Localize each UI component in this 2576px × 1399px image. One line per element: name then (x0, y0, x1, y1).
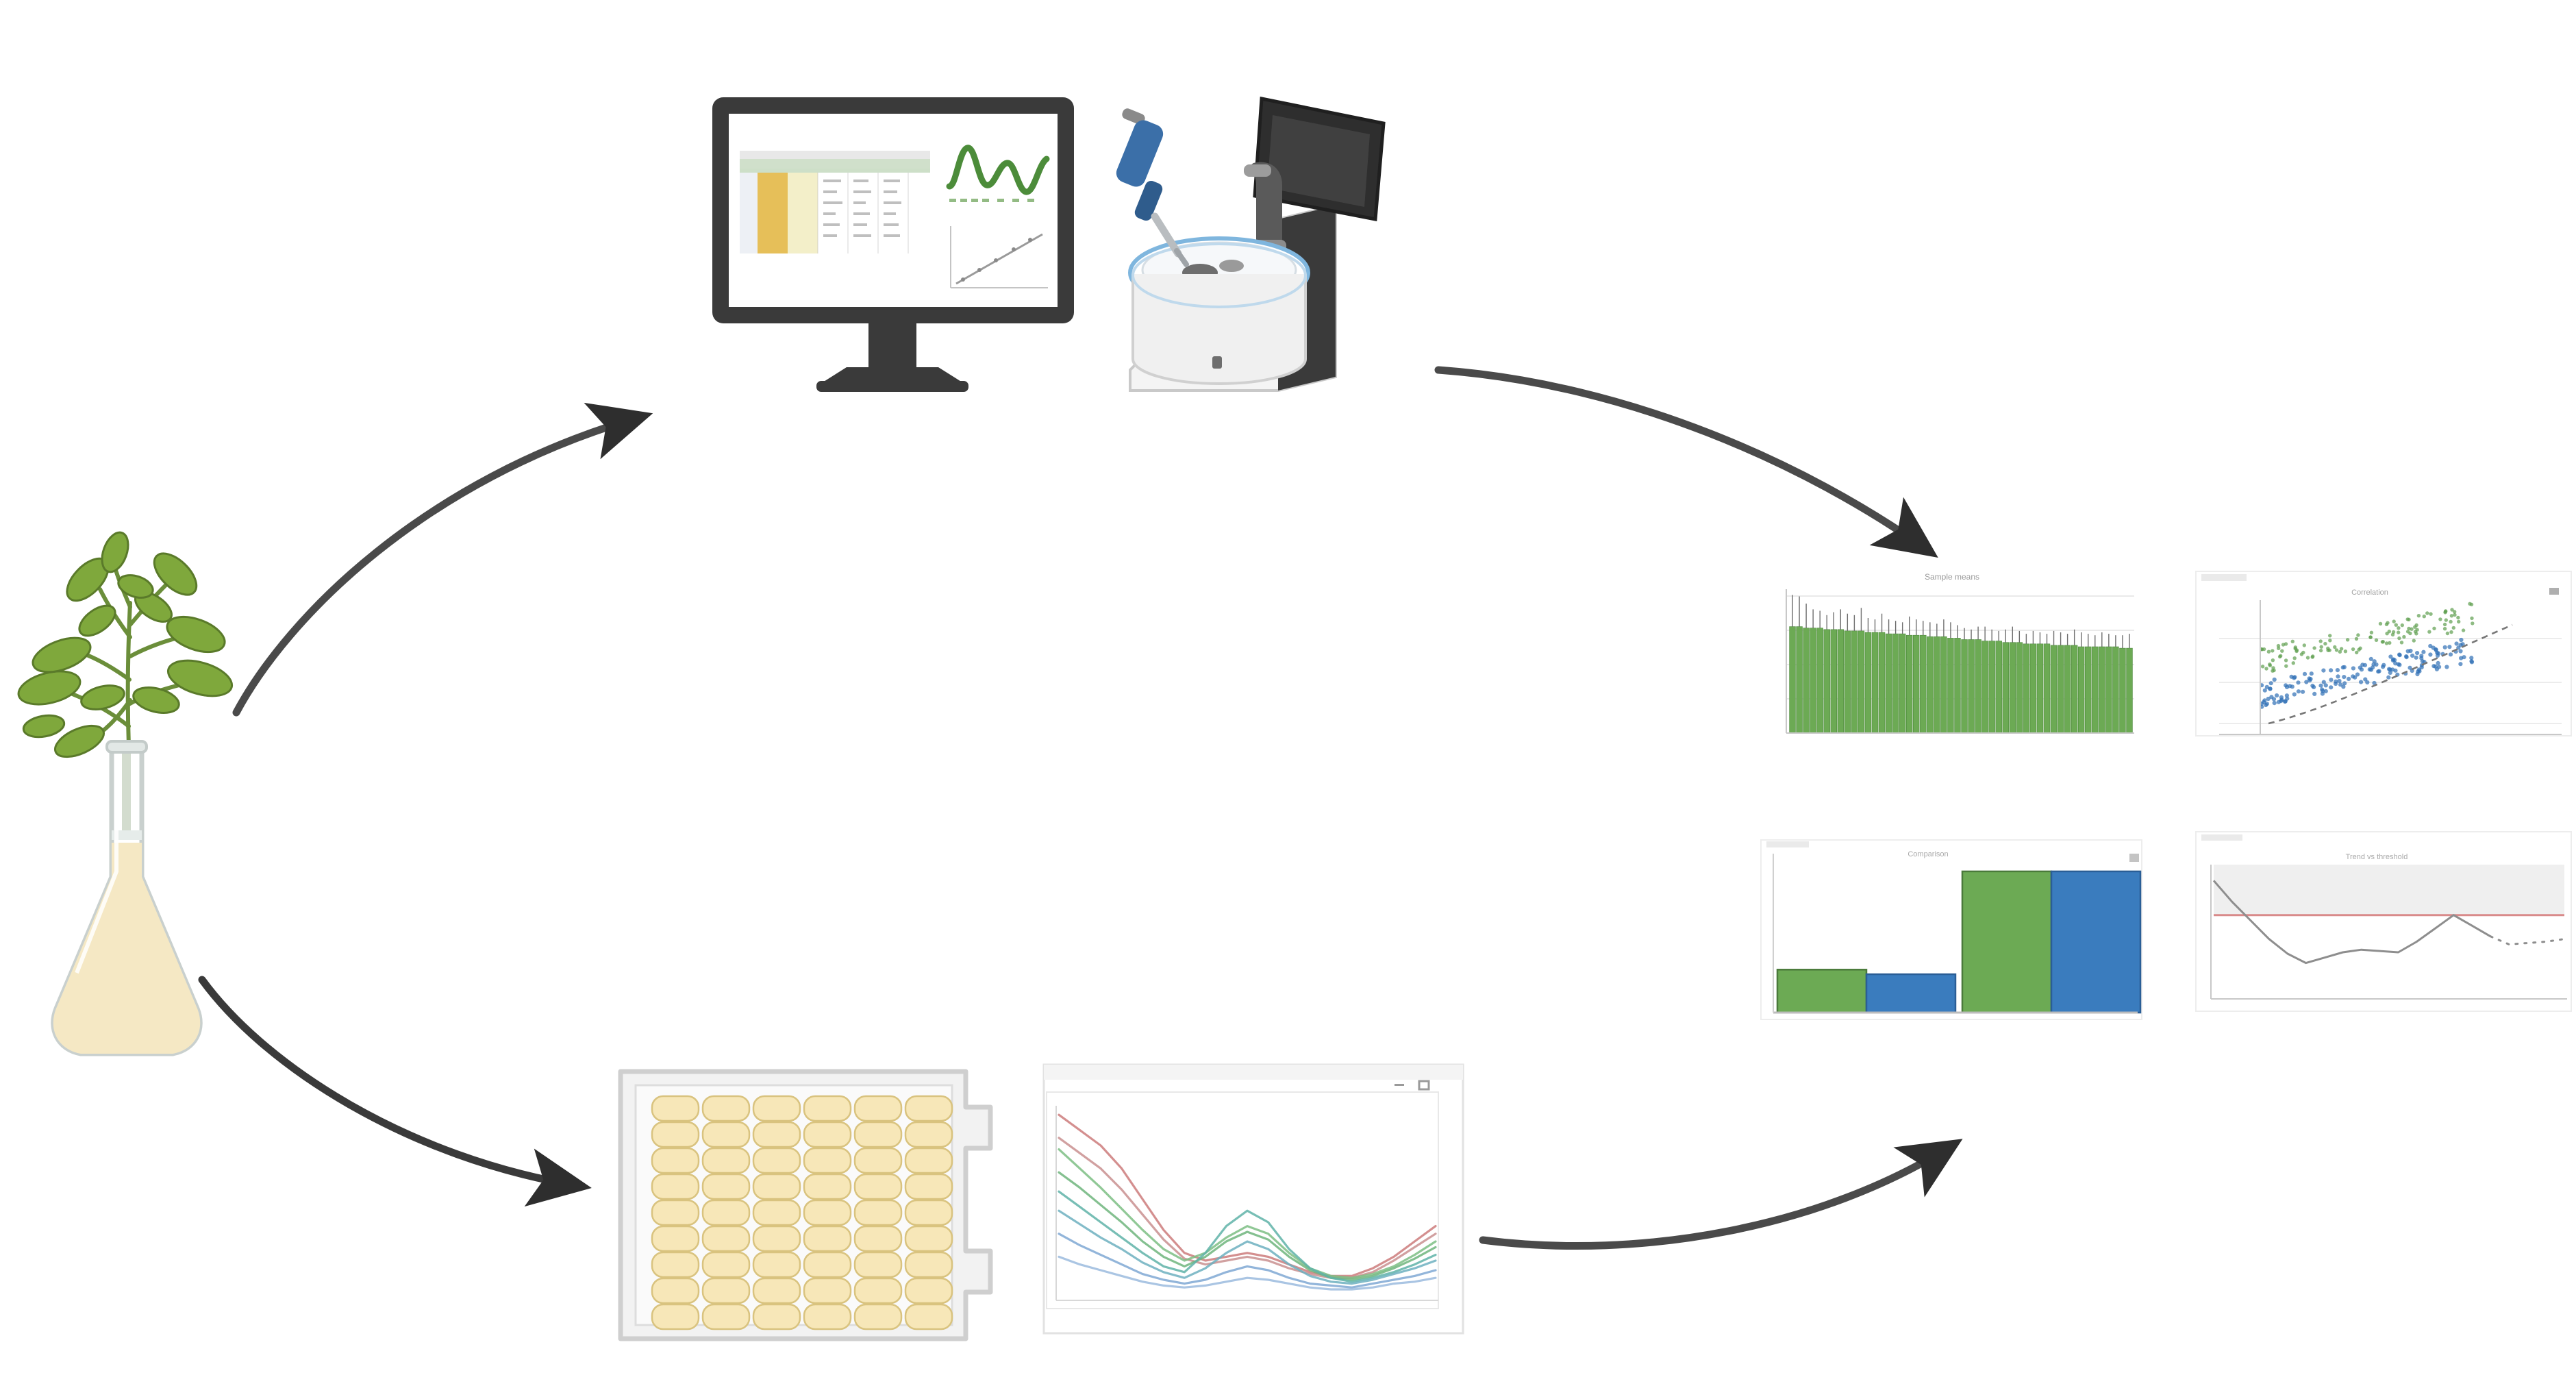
scatter-point (2391, 657, 2395, 661)
bar (1810, 628, 1816, 733)
microplate-well[interactable] (652, 1096, 699, 1121)
microplate-well[interactable] (905, 1148, 952, 1173)
bar (2010, 643, 2016, 733)
scatter-point (2385, 632, 2388, 635)
scatter-point (2269, 695, 2273, 699)
bar (2058, 645, 2064, 733)
scatter-point (2329, 685, 2333, 689)
scatter-point (2321, 689, 2325, 693)
scatter-point (2376, 669, 2380, 673)
bar (1962, 640, 1968, 734)
scatter-point (2414, 623, 2418, 627)
microplate-well[interactable] (855, 1148, 901, 1173)
bar (1831, 630, 1837, 733)
bar (2127, 648, 2133, 733)
scatter-point (2284, 642, 2288, 645)
scatter-point (2453, 613, 2456, 617)
scatter-point (2306, 656, 2310, 659)
microplate-well[interactable] (753, 1096, 800, 1121)
scatter-legend (2201, 574, 2247, 581)
bar (1824, 630, 1830, 733)
scatter-point (2456, 616, 2460, 619)
scatter-point (2310, 671, 2314, 676)
scatter-point (2414, 630, 2417, 633)
scatter-point (2328, 639, 2331, 642)
scatter-point (2468, 602, 2471, 606)
grouped-legend-marker (2129, 854, 2139, 862)
scatter-point (2360, 663, 2364, 667)
scatter-point (2417, 614, 2421, 617)
scatter-point (2277, 700, 2281, 704)
scatter-point (2334, 680, 2338, 684)
microplate-well[interactable] (804, 1174, 851, 1199)
scatter-point (2303, 643, 2306, 647)
scatter-point (2271, 658, 2275, 662)
scatter-point (2328, 634, 2331, 637)
scatter-point (2443, 610, 2447, 614)
scatter-point (2436, 661, 2440, 665)
microplate-well[interactable] (753, 1278, 800, 1303)
scatter-point (2406, 649, 2410, 653)
bar (2099, 647, 2105, 733)
bar (1940, 636, 1947, 733)
microplate-well[interactable] (753, 1122, 800, 1147)
scatter-point (2458, 662, 2462, 666)
scatter-point (2271, 649, 2274, 652)
scatter-point (2329, 678, 2333, 682)
bar (2023, 644, 2029, 733)
microplate-well[interactable] (905, 1096, 952, 1121)
scatter-point (2406, 630, 2410, 633)
microplate (610, 1062, 1007, 1350)
grouped-bar (1866, 974, 1955, 1013)
scatter-point (2341, 665, 2345, 669)
microplate-well[interactable] (905, 1278, 952, 1303)
scatter-point (2450, 608, 2453, 611)
scatter-point (2295, 648, 2299, 652)
line-chart-title: Trend vs threshold (2346, 853, 2408, 861)
scatter-point (2431, 645, 2436, 649)
volumetric-flask-icon (53, 741, 200, 1054)
scatter-point (2337, 679, 2341, 683)
bar (2112, 647, 2118, 733)
bar (2105, 647, 2112, 733)
scatter-point (2436, 652, 2440, 656)
arrow-spectra-to-results (1483, 1148, 1949, 1246)
scatter-series (2260, 602, 2512, 723)
scatter-point (2347, 677, 2351, 681)
scatter-point (2262, 698, 2266, 702)
scatter-point (2421, 650, 2425, 654)
bar (1845, 631, 1851, 733)
microplate-well[interactable] (753, 1252, 800, 1277)
scatter-point (2375, 639, 2378, 642)
microplate-well[interactable] (652, 1174, 699, 1199)
scatter-point (2425, 611, 2429, 615)
scatter-point (2261, 665, 2264, 668)
scatter-point (2452, 626, 2455, 630)
scatter-point (2394, 623, 2398, 627)
scatter-point (2329, 668, 2333, 672)
scatter-point (2450, 614, 2453, 617)
scatter-point (2284, 658, 2288, 662)
arrow-flask-to-plate (202, 980, 575, 1185)
scatter-point (2333, 645, 2336, 649)
scatter-point (2357, 648, 2360, 652)
scatter-point (2446, 632, 2449, 635)
scatter-point (2308, 678, 2312, 682)
bar (1865, 632, 1871, 733)
scatter-point (2269, 681, 2273, 685)
scatter-point (2459, 638, 2463, 642)
microplate-well[interactable] (804, 1148, 851, 1173)
results-panel: Sample means Correlation (1740, 548, 2576, 1069)
microplate-well[interactable] (753, 1148, 800, 1173)
line-forecast (2490, 937, 2564, 945)
microplate-well[interactable] (855, 1200, 901, 1225)
scatter-point (2443, 645, 2447, 649)
bar (2044, 644, 2050, 733)
microplate-well[interactable] (703, 1304, 749, 1329)
scatter-point (2273, 678, 2277, 682)
bar (2037, 644, 2043, 733)
scatter-point (2285, 697, 2289, 701)
scatter-point (2417, 667, 2421, 671)
microplate-well[interactable] (703, 1096, 749, 1121)
scatter-point (2319, 639, 2323, 643)
scatter-point (2303, 672, 2307, 676)
microplate-well[interactable] (855, 1226, 901, 1251)
scatter-point (2365, 680, 2369, 684)
bar (1838, 630, 1844, 733)
scatter-point (2458, 649, 2462, 653)
chart-scatter: Correlation (2192, 562, 2575, 767)
scatter-point (2397, 662, 2401, 666)
scatter-point (2272, 669, 2275, 672)
scatter-point (2444, 665, 2449, 669)
scatter-point (2397, 636, 2401, 640)
scatter-legend-marker (2549, 588, 2559, 595)
microplate-well[interactable] (753, 1200, 800, 1225)
scatter-point (2319, 649, 2323, 652)
microplate-well[interactable] (703, 1200, 749, 1225)
scatter-point (2280, 649, 2284, 653)
line-legend (2201, 834, 2242, 841)
microplate-well[interactable] (855, 1252, 901, 1277)
microplate-well[interactable] (855, 1278, 901, 1303)
bar (1851, 631, 1858, 733)
scatter-point (2404, 654, 2408, 658)
scatter-point (2292, 692, 2297, 696)
scatter-point (2391, 633, 2394, 636)
microplate-well[interactable] (652, 1148, 699, 1173)
bar (1948, 638, 1954, 733)
scatter-point (2421, 659, 2425, 663)
scatter-point (2438, 617, 2442, 621)
scatter-point (2296, 680, 2300, 684)
minimize-icon[interactable] (1395, 1084, 1404, 1086)
scatter-point (2285, 685, 2289, 689)
bar (1927, 636, 1933, 733)
plant-flask (14, 521, 240, 1076)
microplate-well[interactable] (855, 1304, 901, 1329)
scatter-point (2323, 642, 2327, 645)
workflow-diagram: Sample means Correlation (0, 0, 2576, 1399)
scatter-point (2410, 654, 2414, 658)
scatter-point (2371, 663, 2375, 667)
scatter-point (2457, 620, 2460, 623)
scatter-point (2470, 617, 2473, 620)
scatter-point (2360, 667, 2364, 671)
microplate-well[interactable] (703, 1278, 749, 1303)
microplate-well[interactable] (804, 1122, 851, 1147)
grouped-legend (1766, 841, 1809, 847)
scatter-point (2284, 665, 2288, 668)
scatter-point (2346, 638, 2349, 641)
scatter-point (2273, 701, 2277, 705)
scatter-point (2444, 618, 2448, 621)
scatter-point (2368, 667, 2372, 671)
grouped-bar (2051, 871, 2140, 1013)
scatter-point (2292, 675, 2297, 679)
bar (1790, 627, 1796, 733)
scatter-point (2353, 676, 2357, 680)
microplate-well[interactable] (652, 1200, 699, 1225)
bar (1886, 634, 1892, 733)
scatter-point (2414, 656, 2418, 660)
scatter-point (2268, 686, 2272, 691)
scatter-point (2336, 668, 2340, 672)
microplate-well[interactable] (804, 1252, 851, 1277)
scatter-point (2293, 656, 2297, 660)
microplate-well[interactable] (905, 1122, 952, 1147)
scatter-point (2292, 661, 2295, 665)
bar (2064, 645, 2071, 733)
bar (1968, 640, 1975, 734)
microplate-well[interactable] (652, 1226, 699, 1251)
threshold-band (2214, 865, 2564, 915)
bar (1982, 641, 1988, 733)
scatter-point (2326, 647, 2329, 650)
scatter-point (2297, 689, 2301, 693)
scatter-point (2312, 685, 2316, 689)
microplate-well[interactable] (753, 1226, 800, 1251)
scatter-point (2462, 655, 2466, 659)
scatter-point (2432, 627, 2436, 630)
bar (2016, 643, 2023, 733)
arrow-instruments-to-results (1438, 370, 1925, 548)
spectra-window (1041, 1062, 1466, 1336)
scatter-point (2423, 615, 2426, 618)
scatter-point (2400, 641, 2403, 644)
microplate-well[interactable] (703, 1252, 749, 1277)
scatter-point (2277, 644, 2280, 647)
scatter-point (2455, 641, 2459, 645)
scatter-point (2312, 692, 2316, 696)
scatter-point (2388, 671, 2392, 675)
scatter-point (2264, 667, 2268, 670)
microplate-well[interactable] (804, 1304, 851, 1329)
scatter-point (2381, 663, 2386, 667)
bar (1858, 631, 1864, 733)
scatter-point (2351, 666, 2355, 670)
microplate-well[interactable] (753, 1174, 800, 1199)
grouped-bar-series (1777, 871, 2140, 1013)
bar (1975, 640, 1981, 734)
scatter-point (2392, 619, 2396, 623)
scatter-point (2388, 641, 2391, 645)
bar (1913, 635, 1919, 733)
bar (2120, 648, 2126, 733)
microplate-well[interactable] (905, 1226, 952, 1251)
scatter-point (2369, 635, 2373, 639)
monitor (705, 82, 1089, 418)
scatter-point (2449, 630, 2453, 634)
bar (1797, 627, 1803, 733)
scatter-point (2401, 623, 2404, 627)
scatter-point (2415, 651, 2419, 655)
bar (1996, 641, 2002, 733)
scatter-point (2351, 647, 2355, 651)
plant-icon (15, 529, 236, 763)
bar (2051, 645, 2057, 733)
microplate-well[interactable] (703, 1148, 749, 1173)
microplate-well[interactable] (905, 1174, 952, 1199)
bar (1899, 634, 1905, 733)
scatter-point (2402, 635, 2405, 639)
arrow-flask-to-instruments (236, 418, 637, 713)
scatter-point (2381, 640, 2385, 643)
scatter-point (2410, 628, 2413, 631)
scatter-point (2397, 626, 2400, 630)
bar (1906, 635, 1912, 733)
scatter-point (2412, 639, 2416, 642)
scatter-point (2415, 672, 2419, 676)
scatter-point (2267, 650, 2271, 654)
chart-bar-errorbars: Sample means (1760, 569, 2144, 767)
scatter-point (2342, 681, 2347, 685)
microplate-well[interactable] (905, 1200, 952, 1225)
line-series (2214, 865, 2564, 963)
bar (2071, 645, 2077, 733)
scatter-point (2447, 645, 2451, 649)
bar (2003, 643, 2009, 733)
microplate-well[interactable] (703, 1122, 749, 1147)
bar-chart-title: Sample means (1925, 572, 1979, 582)
bar (1803, 628, 1810, 733)
scatter-point (2434, 665, 2438, 669)
microplate-well[interactable] (804, 1200, 851, 1225)
microplate-well[interactable] (652, 1278, 699, 1303)
bar (1872, 632, 1878, 733)
bar (1955, 638, 1961, 733)
scatter-point (2397, 652, 2401, 656)
bar (2030, 644, 2036, 733)
scatter-point (2449, 652, 2453, 656)
scatter-point (2268, 664, 2272, 667)
microplate-well[interactable] (855, 1174, 901, 1199)
scatter-point (2406, 617, 2410, 621)
scatter-point (2275, 693, 2279, 697)
scatter-point (2291, 640, 2294, 643)
bar (1879, 632, 1885, 733)
scatter-point (2342, 675, 2346, 679)
scatter-point (2359, 680, 2363, 684)
microplate-well[interactable] (703, 1174, 749, 1199)
grouped-bars-title: Comparison (1908, 850, 1948, 858)
scatter-point (2320, 645, 2323, 649)
microplate-well[interactable] (652, 1122, 699, 1147)
microplate-well[interactable] (652, 1252, 699, 1277)
microplate-well[interactable] (753, 1304, 800, 1329)
microplate-well[interactable] (804, 1226, 851, 1251)
chart-line-threshold: Trend vs threshold (2192, 822, 2575, 1041)
scatter-point (2290, 684, 2294, 689)
scatter-point (2312, 646, 2316, 649)
scatter-point (2355, 637, 2358, 641)
scatter-point (2469, 656, 2473, 660)
bar (2078, 647, 2084, 733)
scatter-point (2278, 655, 2281, 658)
scatter-point (2321, 669, 2325, 673)
microplate-well[interactable] (855, 1096, 901, 1121)
scatter-point (2428, 652, 2432, 656)
bar (2092, 647, 2098, 733)
bar (2085, 647, 2091, 733)
scatter-point (2356, 633, 2360, 636)
scatter-point (2471, 621, 2474, 625)
scatter-point (2443, 623, 2447, 626)
bar (1989, 641, 1995, 733)
bar-series (1790, 595, 2133, 733)
scatter-point (2397, 630, 2400, 634)
scatter-point (2427, 630, 2431, 634)
microplate-well[interactable] (703, 1226, 749, 1251)
scatter-point (2322, 680, 2326, 684)
scatter-point (2344, 649, 2347, 653)
bar (1817, 628, 1823, 733)
scatter-point (2338, 650, 2342, 654)
scatter-point (2419, 654, 2423, 658)
chart-grouped-bars: Comparison (1757, 822, 2147, 1041)
spectrophotometer (1110, 82, 1397, 418)
microplate-well[interactable] (905, 1304, 952, 1329)
scatter-point (2386, 676, 2390, 680)
microplate-well[interactable] (855, 1122, 901, 1147)
microplate-well[interactable] (804, 1096, 851, 1121)
scatter-point (2443, 627, 2447, 630)
scatter-point (2301, 651, 2305, 654)
scatter-point (2318, 684, 2323, 688)
bar (1934, 636, 1940, 733)
microplate-well[interactable] (905, 1252, 952, 1277)
scatter-point (2379, 622, 2382, 626)
bar (1920, 635, 1926, 733)
grouped-bar (1962, 871, 2051, 1013)
scatter-point (2301, 690, 2305, 694)
microplate-well[interactable] (652, 1304, 699, 1329)
scatter-point (2336, 674, 2340, 678)
scatter-point (2385, 623, 2388, 626)
scatter-point (2462, 628, 2465, 632)
bar (1892, 634, 1899, 733)
scatter-point (2470, 660, 2474, 664)
microplate-well[interactable] (804, 1278, 851, 1303)
scatter-point (2429, 612, 2432, 616)
scatter-point (2262, 647, 2266, 651)
scatter-title: Correlation (2351, 589, 2388, 597)
scatter-point (2370, 631, 2373, 634)
